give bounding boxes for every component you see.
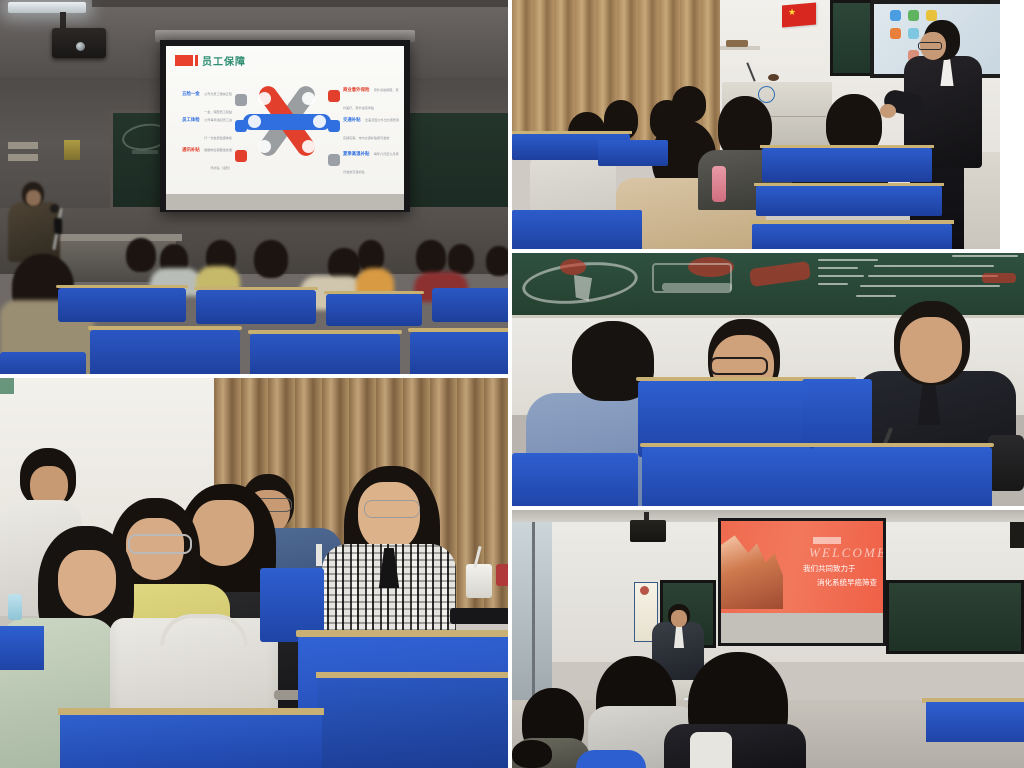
desk-edge — [810, 443, 994, 447]
desk — [598, 140, 668, 166]
microphone-icon — [768, 74, 779, 81]
chalk-mural-red — [982, 273, 1016, 283]
eyeglasses-icon — [364, 500, 420, 518]
slide-accent-bar — [195, 55, 198, 66]
audience-collar — [690, 732, 732, 768]
smartphone — [450, 608, 510, 624]
wall-sign — [0, 378, 14, 394]
diagram-node — [258, 140, 271, 153]
canyon-photo — [721, 529, 783, 609]
desk-front-right — [318, 676, 512, 768]
desk-edge — [750, 220, 954, 224]
seam-right-lower — [512, 506, 1024, 510]
drink-straw — [316, 544, 322, 566]
umbrella-icon — [328, 90, 340, 102]
chalk-mural-base — [662, 283, 732, 291]
slide-item-heading: 交通补贴 — [343, 118, 361, 123]
desk-front — [576, 750, 646, 768]
chalk-mural-red — [749, 261, 811, 287]
speaker-face — [26, 190, 41, 206]
app-icon[interactable] — [890, 10, 901, 21]
slide-item-heading: 夏季高温补贴 — [343, 152, 369, 157]
chalk-mural-red — [560, 259, 586, 275]
slide-item: 夏季高温补贴 每年六月至九月按月发放高温补贴 — [328, 142, 401, 178]
eyeglasses-icon — [710, 357, 768, 375]
desk-row — [58, 288, 186, 322]
seat-back — [0, 626, 44, 670]
desk-front — [812, 447, 992, 510]
desk-edge — [754, 183, 944, 186]
projection-screen[interactable]: 员工保障 五险一金 公司为员工缴纳五险一金，保障员工权益 员工体检 公司每年组织… — [166, 46, 404, 206]
audience-head — [416, 240, 446, 274]
slide-item-heading: 商业意外保险 — [343, 88, 369, 93]
ceiling-light — [8, 2, 86, 13]
presenter-face — [671, 610, 687, 627]
wall-speaker — [1010, 522, 1024, 548]
slide-title: 员工保障 — [202, 53, 246, 68]
scroll-seal-icon — [640, 586, 649, 595]
diagram-node — [258, 92, 271, 105]
photo-panel-attentive-audience[interactable] — [0, 378, 512, 768]
projector-mount — [60, 12, 66, 28]
desk-edge — [56, 285, 188, 288]
student-head — [672, 86, 706, 122]
desk-row — [196, 290, 316, 324]
audience-jacket — [664, 724, 806, 768]
seat-back — [802, 379, 872, 451]
flag-star-icon: ★ — [788, 8, 796, 17]
projector-lens-icon — [76, 42, 85, 51]
desk — [762, 148, 932, 182]
welcome-slide: WELCOME 我们共同致力于 消化系统早癌筛查 — [721, 521, 883, 613]
diagram-node — [248, 115, 261, 128]
app-icon[interactable] — [908, 28, 919, 39]
chalk-mark — [132, 150, 158, 154]
drink-cup — [466, 564, 492, 598]
photo-collage: 员工保障 五险一金 公司为员工缴纳五险一金，保障员工权益 员工体检 公司每年组织… — [0, 0, 1024, 768]
water-bottle — [8, 594, 22, 620]
slide-item: 通讯补贴 根据岗位需要发放通讯补贴（话费） — [180, 138, 247, 174]
slide-badge — [813, 537, 841, 544]
audience-head — [126, 238, 156, 272]
desk-row-front — [250, 334, 400, 378]
wall-poster — [8, 142, 38, 149]
presentation-slide: 员工保障 五险一金 公司为员工缴纳五险一金，保障员工权益 员工体检 公司每年组织… — [166, 46, 404, 206]
teacher-hand — [880, 104, 896, 118]
desk-row-front — [410, 332, 512, 378]
diagram-node — [302, 92, 315, 105]
ceiling-rail — [92, 0, 512, 7]
desk-edge — [760, 145, 934, 148]
desk-row-front — [90, 330, 240, 378]
desk-edge — [194, 287, 318, 290]
slide-item-heading: 五险一金 — [182, 92, 200, 97]
sun-icon — [328, 154, 340, 166]
seam-vertical — [508, 0, 512, 768]
seam-left-horizontal — [0, 374, 512, 378]
photo-panel-three-men-discussion[interactable] — [512, 253, 1024, 510]
attendee-face — [192, 500, 254, 566]
window-frame — [532, 520, 535, 700]
wall-poster-yellow — [64, 140, 80, 160]
desk-edge — [408, 328, 512, 332]
man-right-face — [900, 317, 962, 383]
slide-item-sub: 根据岗位需要发放通讯补贴（话费） — [204, 148, 232, 170]
shelf-object — [726, 40, 748, 47]
desk-edge — [512, 131, 632, 134]
desk-front — [756, 186, 942, 216]
desk-front — [512, 453, 638, 510]
desk-edge — [58, 708, 324, 715]
photo-panel-teacher-addressing-students[interactable]: ★ ▪▪▪▪▪ — [512, 0, 1000, 253]
podium-top — [52, 234, 182, 241]
photo-panel-lecture-hall[interactable]: 员工保障 五险一金 公司为员工缴纳五险一金，保障员工权益 员工体检 公司每年组织… — [0, 0, 512, 378]
slide-item-heading: 员工体检 — [182, 118, 200, 123]
slide-item-heading: 通讯补贴 — [182, 148, 200, 153]
slide-item: 交通补贴 出差及因公外出交通费用实报实销，市内交通补贴按月发放 — [328, 108, 401, 144]
phone-in-hand — [54, 218, 62, 234]
desk-front — [642, 447, 812, 510]
car-icon — [328, 120, 340, 132]
right-margin-top — [1000, 0, 1024, 253]
screen-lower-band — [721, 613, 883, 643]
desk-edge — [248, 330, 402, 334]
desk-row — [432, 288, 512, 322]
slide-item-sub: 公司每年组织员工进行一次免费健康体检 — [204, 118, 232, 140]
desk-edge — [324, 291, 424, 294]
x-diagram-graphic — [252, 84, 322, 158]
desk-back-right — [926, 702, 1024, 742]
eyeglasses-icon — [918, 42, 942, 50]
thermos-bottle — [712, 166, 726, 202]
projector — [630, 520, 666, 542]
slide-accent-block — [175, 55, 193, 66]
screen-lower-band — [166, 194, 404, 210]
phone-icon — [235, 150, 247, 162]
wall-poster — [8, 154, 38, 161]
seam-right-upper — [512, 249, 1024, 253]
slide-line-1: 我们共同致力于 — [803, 563, 856, 574]
slide-welcome-title: WELCOME — [809, 545, 883, 561]
audience-head — [448, 244, 474, 274]
app-icon[interactable] — [890, 28, 901, 39]
attendee-face — [58, 550, 116, 616]
microphone-icon — [50, 204, 59, 213]
audience-head — [254, 240, 288, 278]
photo-panel-welcome-slide-lecture[interactable]: WELCOME 我们共同致力于 消化系统早癌筛查 — [512, 510, 1024, 768]
desk-edge — [88, 326, 242, 330]
diagram-node — [313, 115, 326, 128]
desk-row — [326, 294, 422, 326]
desk-edge — [296, 630, 512, 637]
projection-screen[interactable]: WELCOME 我们共同致力于 消化系统早癌筛查 — [721, 521, 883, 613]
app-icon[interactable] — [908, 10, 919, 21]
eyeglasses-icon — [128, 534, 192, 554]
desk-front — [512, 210, 642, 253]
blackboard-right — [886, 580, 1024, 654]
desk-edge — [316, 672, 512, 678]
diagram-node — [302, 140, 315, 153]
audience-head — [512, 740, 552, 768]
desk-front-left — [60, 714, 322, 768]
desk-edge — [640, 443, 814, 447]
shield-icon — [235, 94, 247, 106]
app-icon[interactable] — [926, 10, 937, 21]
slide-line-2: 消化系统早癌筛查 — [817, 577, 877, 588]
